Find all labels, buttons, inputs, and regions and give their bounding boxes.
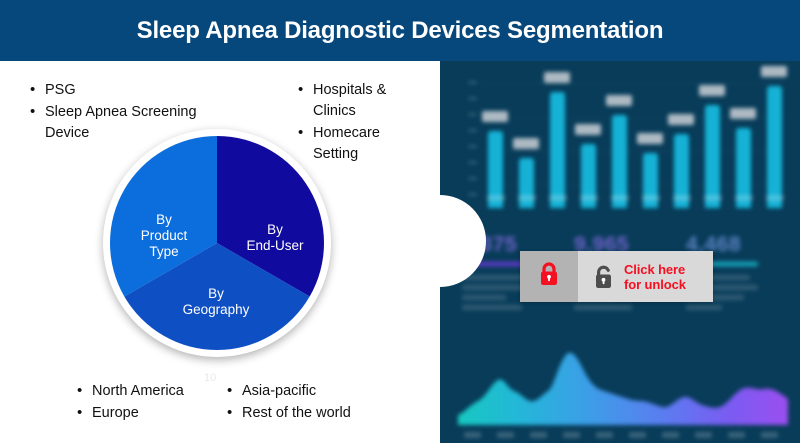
unlock-action-cell[interactable]: Click here for unlock <box>578 251 713 302</box>
area-chart-preview <box>458 343 788 439</box>
geography-bullets-right: Asia-pacific Rest of the world <box>225 381 400 425</box>
list-item: North America <box>75 381 225 402</box>
slide-header: Sleep Apnea Diagnostic Devices Segmentat… <box>0 0 800 61</box>
page-title: Sleep Apnea Diagnostic Devices Segmentat… <box>137 17 664 45</box>
list-item: Hospitals & Clinics <box>296 80 426 122</box>
list-item: Rest of the world <box>225 403 400 424</box>
unlock-banner[interactable]: Click here for unlock <box>520 251 713 302</box>
unlock-label-line1: Click here <box>624 262 686 277</box>
geography-bullets-left: North America Europe <box>75 381 225 425</box>
segmentation-pie-chart: By End-User By Product Type By Geography <box>103 129 331 357</box>
bar-chart-preview <box>458 73 788 228</box>
list-item: Europe <box>75 403 225 424</box>
locked-state-cell <box>520 251 578 302</box>
unlock-label-line2: for unlock <box>624 277 686 292</box>
lock-open-icon <box>584 264 624 290</box>
list-item: PSG <box>28 80 203 101</box>
list-item: Asia-pacific <box>225 381 400 402</box>
slide-canvas: Sleep Apnea Diagnostic Devices Segmentat… <box>0 0 800 443</box>
unlock-label: Click here for unlock <box>624 262 686 292</box>
lock-closed-icon <box>538 261 560 292</box>
